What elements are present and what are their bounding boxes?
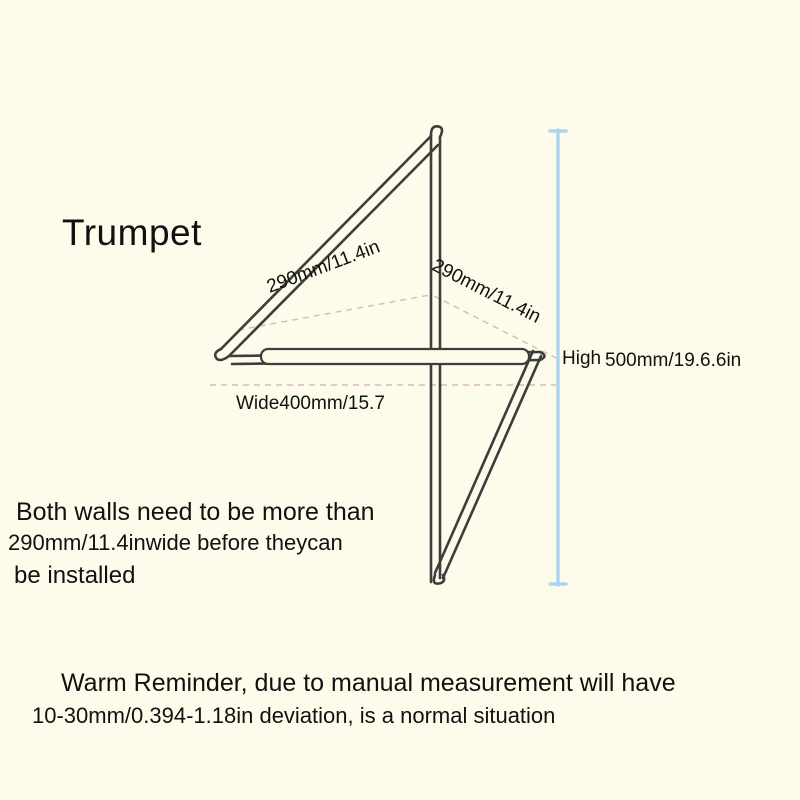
dimension-value-high: 500mm/19.6.6in (605, 350, 741, 372)
bracket-sleeve (261, 349, 529, 364)
warm-reminder-line-1: Warm Reminder, due to manual measurement… (61, 669, 676, 698)
bracket-upper-left-arm (221, 136, 431, 349)
diagram-canvas: Trumpet 290mm/11.4in 290mm/11.4in Wide40… (0, 0, 800, 800)
dimension-label-wide: Wide400mm/15.7 (236, 393, 385, 415)
installation-note-line-2: 290mm/11.4inwide before theycan (8, 530, 343, 555)
bracket-lower-right-arm (443, 356, 541, 578)
guide-line-upper-diagonal (238, 295, 430, 330)
bracket-lower-right-arm-inner (435, 351, 533, 573)
installation-note-line-3: be installed (14, 562, 135, 590)
bracket-sleeve-body (261, 349, 529, 364)
warm-reminder-line-2: 10-30mm/0.394-1.18in deviation, is a nor… (32, 703, 555, 728)
bracket-top-bend (431, 126, 442, 137)
dimension-label-high: High (562, 348, 601, 370)
bracket-left-tip-loop (215, 349, 229, 360)
page-title: Trumpet (62, 212, 202, 255)
bracket-upper-left-arm-inner (229, 145, 438, 356)
installation-note-line-1: Both walls need to be more than (16, 498, 375, 527)
